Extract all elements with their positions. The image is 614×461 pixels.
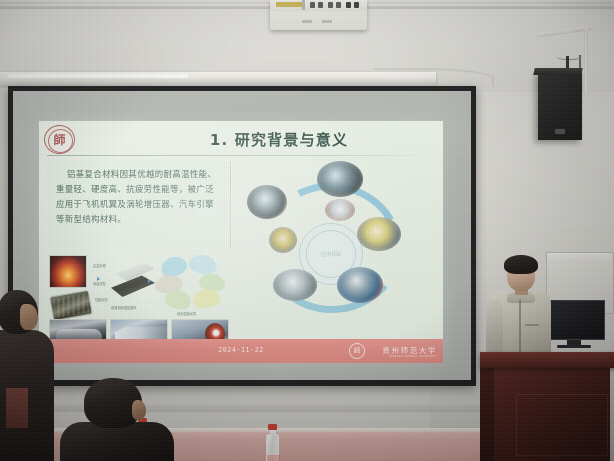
cycle-bubble-photo [317, 161, 363, 197]
projector-port-icon [328, 2, 333, 8]
cycle-bubble-photo [273, 269, 317, 301]
podium-desktop [480, 352, 614, 368]
presenter-jacket-pocket [525, 324, 539, 326]
wall-conduit-vertical [584, 28, 588, 94]
application-cycle-diagram: 应用领域 [239, 165, 435, 345]
wedge-caption: 增强相增强铝基体 [111, 305, 137, 310]
speaker-wire [556, 50, 582, 60]
projector-port-icon [336, 2, 341, 8]
projector-port-icon [310, 2, 315, 8]
screen-roller-housing [0, 72, 436, 86]
title-divider [47, 155, 435, 156]
podium-monitor [543, 300, 605, 348]
podium-body [492, 368, 610, 461]
projector-vent [300, 20, 340, 23]
seal-character: 師 [45, 126, 74, 153]
speaker-top-face [533, 68, 582, 75]
flame-photo [49, 255, 87, 288]
slide-title: 1. 研究背景与意义 [129, 126, 429, 152]
cycle-bubble-photo [325, 199, 355, 221]
projection-screen-frame: 師 1. 研究背景与意义 铝基复合材料因其优越的耐高温性能、 重量轻、硬度高、抗… [8, 86, 476, 386]
arrow-label: 烧结成型 [93, 281, 106, 286]
podium-front-panel [516, 394, 608, 456]
projector-port-icon [354, 2, 359, 8]
projector-port-icon [346, 2, 351, 8]
bottle-label [267, 455, 280, 461]
presenter-jacket-zipper [519, 300, 521, 358]
body-line: 应用于飞机机翼及涡轮增压器、汽车引擎 [56, 197, 223, 212]
footer-seal-icon: 師 [349, 343, 365, 359]
monitor-screen [543, 300, 605, 340]
university-seal-logo: 師 [44, 125, 75, 154]
audience-left [0, 290, 58, 461]
audience-face [20, 304, 38, 330]
projected-slide: 師 1. 研究背景与意义 铝基复合材料因其优越的耐高温性能、 重量轻、硬度高、抗… [39, 121, 443, 363]
petal-shape [187, 252, 218, 276]
slide-footer-bar: 3 2024-11-22 師 贵州师范大学 GUIZHOU NORMAL UNI… [39, 339, 443, 363]
body-line: 重量轻、硬度高、抗疲劳性能等，被广泛 [56, 182, 223, 197]
lectern-podium [480, 352, 614, 461]
projector-mount [302, 0, 305, 10]
water-bottle [266, 424, 279, 461]
podium-side-panel [480, 368, 494, 461]
audience-torso [0, 330, 54, 461]
cycle-bubble-photo [269, 227, 297, 253]
wall-speaker [538, 72, 582, 140]
projector-port-icon [318, 2, 323, 8]
ceiling-projector [270, 0, 367, 30]
body-line: 铝基复合材料因其优越的耐高温性能、 [56, 167, 223, 182]
bottle-body [266, 434, 279, 461]
process-figure-cluster: 铝基复合材料 高温处理 烧结成型 性能测试 增强相增强铝基体 [47, 253, 233, 351]
cycle-bubble-photo [357, 217, 401, 251]
cycle-bubble-photo [337, 267, 383, 303]
process-arrow-icon [148, 279, 151, 283]
lecture-hall-photo: 師 1. 研究背景与意义 铝基复合材料因其优越的耐高温性能、 重量轻、硬度高、抗… [0, 0, 614, 461]
arrow-label: 高温处理 [93, 263, 106, 268]
presenter-hair [504, 255, 538, 274]
audience-face [132, 400, 146, 420]
footer-university-name-en: GUIZHOU NORMAL UNIVERSITY [389, 355, 437, 358]
monitor-base [557, 345, 591, 348]
presenter-arm [486, 300, 503, 358]
property-petal-diagram: 综合性能优异 [155, 255, 231, 317]
speaker-badge-icon [555, 129, 565, 134]
slide-body-text: 铝基复合材料因其优越的耐高温性能、 重量轻、硬度高、抗疲劳性能等，被广泛 应用于… [47, 161, 231, 249]
petal-footnote: 综合性能优异 [177, 311, 196, 316]
cycle-bubble-photo [247, 185, 287, 219]
projection-screen-surface: 師 1. 研究背景与意义 铝基复合材料因其优越的耐高温性能、 重量轻、硬度高、抗… [13, 91, 471, 380]
arrow-label: 性能测试 [95, 297, 108, 302]
audience-shirt [6, 388, 28, 428]
roller-highlight [8, 74, 188, 78]
projector-label [276, 2, 302, 7]
body-line: 等新型结构材料。 [56, 212, 223, 227]
audience-center [62, 378, 168, 461]
